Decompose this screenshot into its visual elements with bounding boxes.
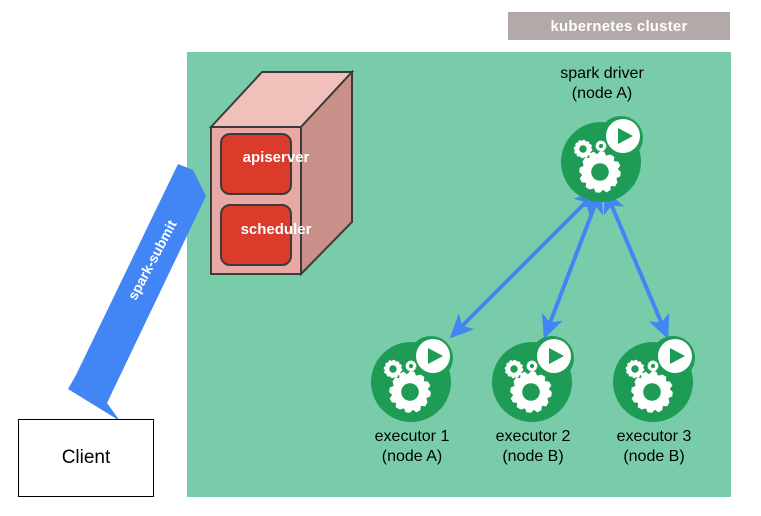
scheduler-label: scheduler (222, 222, 330, 237)
spark-driver-node: (node A) (528, 84, 676, 104)
executor-3-caption: executor 3 (node B) (580, 427, 728, 467)
client-label: Client (62, 447, 111, 469)
executor-3-node: (node B) (580, 447, 728, 467)
apiserver-label: apiserver (222, 150, 330, 165)
kubernetes-cluster-badge-label: kubernetes cluster (551, 18, 688, 35)
executor-3-name: executor 3 (580, 427, 728, 447)
spark-driver-caption: spark driver (node A) (528, 64, 676, 104)
client-box[interactable]: Client (18, 419, 154, 497)
kubernetes-cluster-badge: kubernetes cluster (508, 12, 730, 40)
spark-driver-name: spark driver (528, 64, 676, 84)
